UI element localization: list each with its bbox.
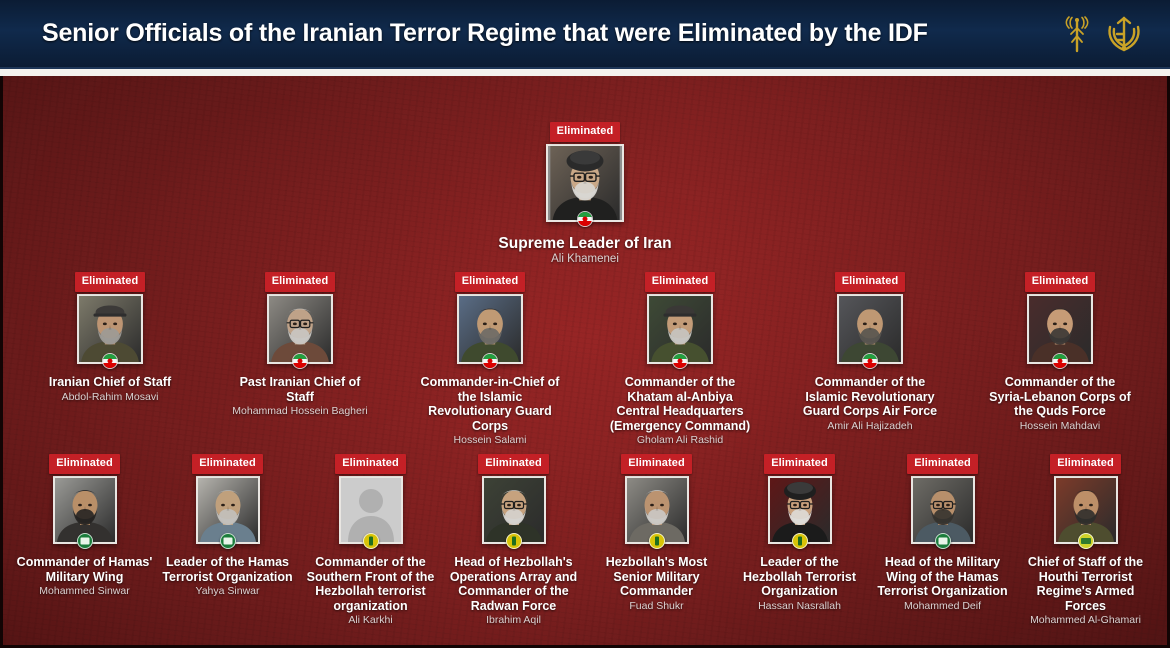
portrait-frame	[1054, 476, 1118, 544]
hamas-flag-icon	[935, 533, 951, 549]
status-badge: Eliminated	[335, 454, 406, 474]
status-badge: Eliminated	[764, 454, 835, 474]
portrait-frame	[267, 294, 333, 364]
portrait-frame	[625, 476, 689, 544]
hezbollah-flag-icon	[792, 533, 808, 549]
iran-flag-icon	[862, 353, 878, 369]
official-card: EliminatedHead of the Military Wing of t…	[874, 454, 1011, 627]
official-name: Mohammad Hossein Bagheri	[232, 405, 367, 418]
status-badge: Eliminated	[645, 272, 716, 292]
portrait-photo	[548, 146, 622, 220]
status-badge: Eliminated	[75, 272, 146, 292]
portrait-frame	[482, 476, 546, 544]
official-card: EliminatedSupreme Leader of IranAli Kham…	[498, 122, 671, 266]
official-title: Head of the Military Wing of the Hamas T…	[874, 555, 1011, 599]
status-badge: Eliminated	[1050, 454, 1121, 474]
iranian-officials-row: EliminatedIranian Chief of StaffAbdol-Ra…	[3, 272, 1167, 447]
official-title: Past Iranian Chief of Staff	[229, 375, 372, 404]
page-title: Senior Officials of the Iranian Terror R…	[0, 19, 1060, 48]
header-emblems	[1060, 14, 1170, 54]
iran-flag-icon	[102, 353, 118, 369]
radio-antenna-emblem	[1060, 15, 1094, 53]
leader-row: EliminatedSupreme Leader of IranAli Kham…	[3, 122, 1167, 266]
status-badge: Eliminated	[550, 122, 621, 142]
portrait-frame	[1027, 294, 1093, 364]
official-name: Amir Ali Hajizadeh	[827, 420, 912, 433]
status-badge: Eliminated	[835, 272, 906, 292]
official-name: Yahya Sinwar	[195, 585, 259, 598]
hezbollah-flag-icon	[506, 533, 522, 549]
status-badge: Eliminated	[192, 454, 263, 474]
status-badge: Eliminated	[265, 272, 336, 292]
official-card: EliminatedCommander of the Southern Fron…	[302, 454, 439, 627]
hamas-flag-icon	[77, 533, 93, 549]
poster: Senior Officials of the Iranian Terror R…	[0, 0, 1170, 648]
header-divider	[0, 69, 1170, 76]
official-name: Fuad Shukr	[629, 600, 683, 613]
hezbollah-flag-icon	[649, 533, 665, 549]
iran-flag-icon	[672, 353, 688, 369]
iran-flag-icon	[577, 211, 593, 227]
idf-emblem	[1104, 14, 1144, 54]
official-card: EliminatedCommander of the Islamic Revol…	[799, 272, 942, 447]
portrait-frame	[77, 294, 143, 364]
official-title: Supreme Leader of Iran	[498, 235, 671, 252]
official-card: EliminatedHead of Hezbollah's Operations…	[445, 454, 582, 627]
houthi-flag-icon	[1078, 533, 1094, 549]
official-name: Ali Khamenei	[551, 253, 619, 266]
status-badge: Eliminated	[49, 454, 120, 474]
poster-header: Senior Officials of the Iranian Terror R…	[0, 0, 1170, 69]
portrait-frame	[196, 476, 260, 544]
official-name: Mohammed Deif	[904, 600, 981, 613]
portrait-frame	[911, 476, 975, 544]
portrait-frame	[339, 476, 403, 544]
iran-flag-icon	[292, 353, 308, 369]
official-title: Commander of the Islamic Revolutionary G…	[799, 375, 942, 419]
status-badge: Eliminated	[1025, 272, 1096, 292]
official-title: Iranian Chief of Staff	[49, 375, 171, 390]
official-card: EliminatedIranian Chief of StaffAbdol-Ra…	[39, 272, 182, 447]
official-card: EliminatedCommander-in-Chief of the Isla…	[419, 272, 562, 447]
official-title: Head of Hezbollah's Operations Array and…	[445, 555, 582, 613]
official-title: Commander of the Southern Front of the H…	[302, 555, 439, 613]
official-name: Ali Karkhi	[348, 614, 392, 627]
portrait-frame	[457, 294, 523, 364]
hamas-flag-icon	[220, 533, 236, 549]
portrait-frame	[837, 294, 903, 364]
official-name: Hossein Mahdavi	[1020, 420, 1101, 433]
status-badge: Eliminated	[907, 454, 978, 474]
official-card: EliminatedLeader of the Hezbollah Terror…	[731, 454, 868, 627]
official-card: EliminatedCommander of the Khatam al-Anb…	[609, 272, 752, 447]
official-title: Commander of the Syria-Lebanon Corps of …	[989, 375, 1132, 419]
portrait-frame	[53, 476, 117, 544]
official-name: Mohammed Al-Ghamari	[1030, 614, 1141, 627]
official-name: Hossein Salami	[454, 434, 527, 447]
official-name: Abdol-Rahim Mosavi	[62, 391, 159, 404]
official-title: Commander-in-Chief of the Islamic Revolu…	[419, 375, 562, 433]
hezbollah-flag-icon	[363, 533, 379, 549]
official-title: Commander of the Khatam al-Anbiya Centra…	[609, 375, 752, 433]
official-card: EliminatedChief of Staff of the Houthi T…	[1017, 454, 1154, 627]
official-name: Mohammed Sinwar	[39, 585, 129, 598]
portrait-frame	[768, 476, 832, 544]
proxy-leaders-row: EliminatedCommander of Hamas' Military W…	[3, 454, 1167, 627]
official-title: Chief of Staff of the Houthi Terrorist R…	[1017, 555, 1154, 613]
status-badge: Eliminated	[455, 272, 526, 292]
official-title: Leader of the Hezbollah Terrorist Organi…	[731, 555, 868, 599]
portrait-frame	[546, 144, 624, 222]
iran-flag-icon	[482, 353, 498, 369]
official-card: EliminatedCommander of Hamas' Military W…	[16, 454, 153, 627]
official-name: Ibrahim Aqil	[486, 614, 541, 627]
official-name: Hassan Nasrallah	[758, 600, 841, 613]
official-card: EliminatedPast Iranian Chief of StaffMoh…	[229, 272, 372, 447]
portrait-frame	[647, 294, 713, 364]
official-card: EliminatedLeader of the Hamas Terrorist …	[159, 454, 296, 627]
official-card: EliminatedCommander of the Syria-Lebanon…	[989, 272, 1132, 447]
official-title: Leader of the Hamas Terrorist Organizati…	[159, 555, 296, 584]
poster-body: EliminatedSupreme Leader of IranAli Kham…	[0, 76, 1170, 648]
official-name: Gholam Ali Rashid	[637, 434, 723, 447]
official-title: Commander of Hamas' Military Wing	[16, 555, 153, 584]
status-badge: Eliminated	[478, 454, 549, 474]
official-title: Hezbollah's Most Senior Military Command…	[588, 555, 725, 599]
official-card: EliminatedHezbollah's Most Senior Milita…	[588, 454, 725, 627]
iran-flag-icon	[1052, 353, 1068, 369]
status-badge: Eliminated	[621, 454, 692, 474]
